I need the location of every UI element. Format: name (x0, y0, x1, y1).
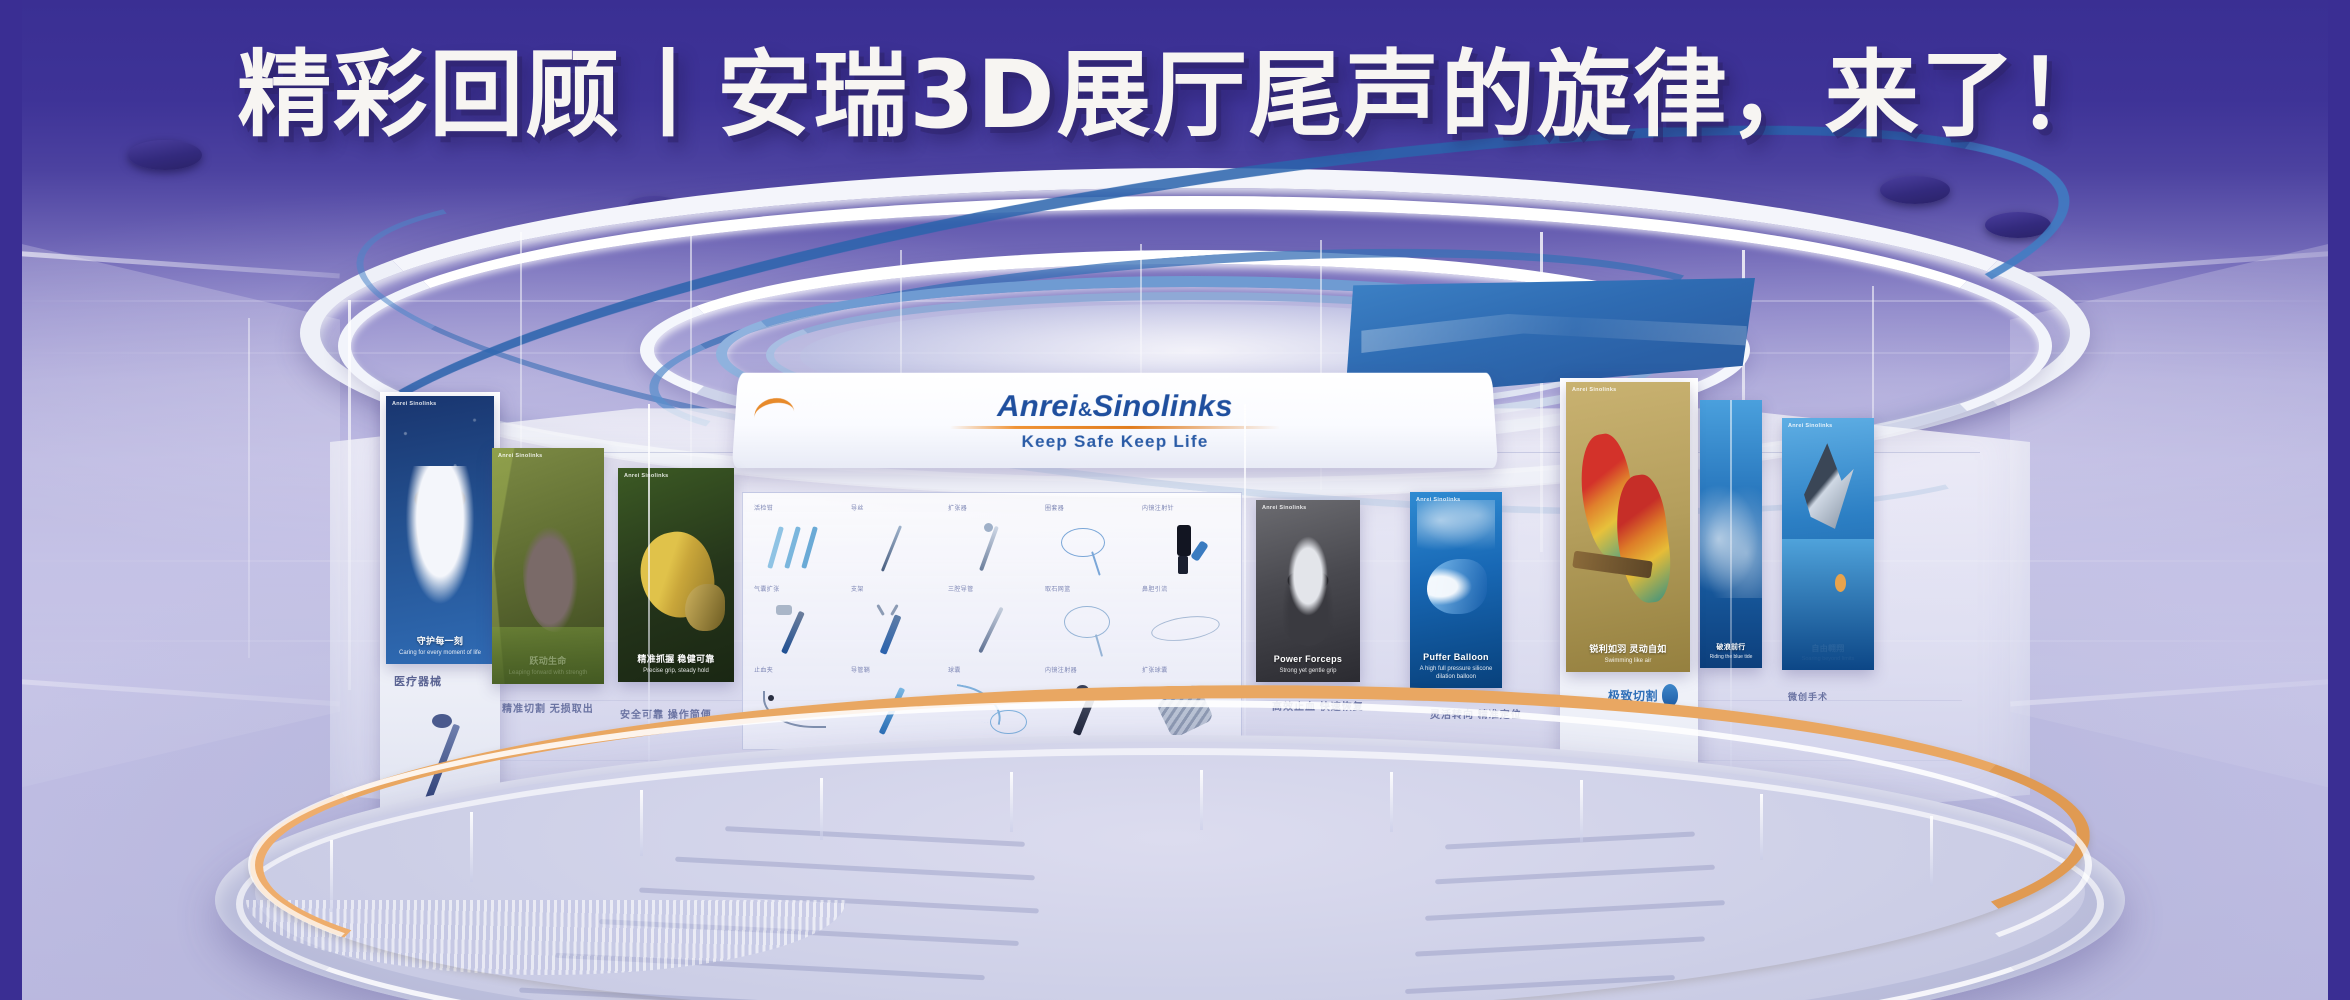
ceiling-light-pod-icon (1880, 176, 1950, 204)
poster-kangaroo-brand: Anrei Sinolinks (498, 453, 543, 459)
poster-puffer-dolphin-icon (1427, 559, 1488, 614)
poster-frog-title: 精准抓握 稳健可靠 (618, 654, 734, 665)
brand-logo-banner: Anrei&Sinolinks Keep Safe Keep Life (732, 373, 1498, 468)
product-cell[interactable]: 鼻胆引流 (1139, 584, 1233, 662)
brand-tagline: Keep Safe Keep Life (1021, 432, 1208, 452)
wall-seam (0, 300, 2350, 302)
right-edge-band (2328, 0, 2350, 1000)
product-icon-basket-loop (1050, 604, 1129, 657)
product-icon-thin-shaft (856, 523, 935, 576)
product-label: 圈套器 (1045, 503, 1064, 512)
poster-bee-eater-title: 锐利如羽 灵动自如 (1566, 644, 1690, 655)
poster-honey-badger[interactable]: Anrei Sinolinks Power Forceps Strong yet… (1256, 500, 1360, 682)
kiosk-mid-label: 微创手术 (1788, 690, 1828, 703)
product-icon-handle-shaft (856, 604, 935, 657)
product-label: 球囊 (948, 665, 961, 674)
brand-ampersand: & (1078, 399, 1093, 421)
left-edge-band (0, 0, 22, 1000)
product-icon-blue-shaft (759, 604, 838, 657)
instrument-tip (432, 714, 452, 728)
poster-puffer-brand: Anrei Sinolinks (1416, 497, 1461, 503)
poster-honey-badger-title: Power Forceps (1256, 654, 1360, 665)
product-icon-taper-shaft (953, 523, 1032, 576)
ceiling-light-pod-icon (628, 196, 680, 215)
poster-bee-eater-subtitle: Swimming like air (1566, 655, 1690, 672)
poster-puffer-foam (1417, 500, 1494, 551)
poster-honey-badger-illustration-icon (1273, 533, 1344, 646)
poster-panda-brand: Anrei Sinolinks (392, 401, 437, 407)
poster-kangaroo-illustration-icon (523, 519, 581, 632)
poster-honey-badger-brand: Anrei Sinolinks (1262, 505, 1307, 511)
poster-frog[interactable]: Anrei Sinolinks 精准抓握 稳健可靠 Precise grip, … (618, 468, 734, 682)
product-label: 支架 (851, 584, 864, 593)
product-cell[interactable]: 气囊扩张 (751, 584, 845, 662)
left-wall-panel (10, 230, 340, 790)
product-icon-snare-loop (1050, 523, 1129, 576)
product-label: 鼻胆引流 (1142, 584, 1168, 593)
poster-panda-illustration-icon (401, 466, 479, 616)
product-cell[interactable]: 导丝 (848, 503, 942, 581)
wall-seam (0, 352, 2350, 354)
wall-caption-1: 精准切割 无损取出 (502, 700, 594, 715)
brand-logo-text: Anrei&Sinolinks (997, 388, 1233, 424)
product-label: 扩张球囊 (1142, 665, 1168, 674)
product-icon-black-handle (1147, 523, 1226, 576)
poster-seabird-brand: Anrei Sinolinks (1788, 423, 1833, 429)
poster-frog-branch (685, 584, 724, 631)
product-cell[interactable]: 内镜注射针 (1139, 503, 1233, 581)
poster-panda[interactable]: Anrei Sinolinks 守护每一刻 Caring for every m… (386, 396, 494, 664)
poster-honey-badger-subtitle: Strong yet gentle grip (1256, 665, 1360, 682)
right-wall-panel (2010, 230, 2340, 790)
poster-kangaroo[interactable]: Anrei Sinolinks 跃动生命 Leaping forward wit… (492, 448, 604, 684)
product-label: 内镜注射器 (1045, 665, 1077, 674)
poster-puffer-title: Puffer Balloon (1410, 652, 1502, 663)
product-label: 气囊扩张 (754, 584, 780, 593)
poster-bee-eater[interactable]: Anrei Sinolinks 锐利如羽 灵动自如 Swimming like … (1566, 382, 1690, 672)
product-label: 三腔导管 (948, 584, 974, 593)
product-cell[interactable]: 支架 (848, 584, 942, 662)
product-label: 止血夹 (754, 665, 773, 674)
product-label: 内镜注射针 (1142, 503, 1174, 512)
logo-swoosh-icon (753, 395, 795, 421)
product-label: 导管鞘 (851, 665, 870, 674)
product-cell[interactable]: 取石网篮 (1042, 584, 1136, 662)
poster-kangaroo-ground (492, 627, 604, 684)
kiosk-left-line2: 医疗器械 (394, 674, 442, 691)
product-label: 活检钳 (754, 503, 773, 512)
logo-underline (950, 426, 1281, 429)
product-icon-oval-loop (1147, 604, 1226, 657)
product-label: 导丝 (851, 503, 864, 512)
ceiling-light-pod-icon (1985, 212, 2051, 238)
poster-bee-eater-bird-2-icon (1610, 472, 1675, 605)
poster-puffer-balloon[interactable]: Anrei Sinolinks Puffer Balloon A high fu… (1410, 492, 1502, 688)
product-cell[interactable]: 扩张器 (945, 503, 1039, 581)
brand-name-b: Sinolinks (1092, 388, 1233, 423)
product-cell[interactable]: 活检钳 (751, 503, 845, 581)
product-label: 扩张器 (948, 503, 967, 512)
poster-seabird-sea (1782, 539, 1874, 670)
poster-puffer-subtitle: A high full pressure silicone dilation b… (1410, 663, 1502, 688)
brand-name-a: Anrei (997, 388, 1078, 423)
poster-frog-subtitle: Precise grip, steady hold (618, 665, 734, 682)
exhibition-hall-banner: Anrei&Sinolinks Keep Safe Keep Life 安瑞 医… (0, 0, 2350, 1000)
poster-frog-brand: Anrei Sinolinks (624, 473, 669, 479)
poster-seabird[interactable]: Anrei Sinolinks 自由翱翔 Soaring beyond limi… (1782, 418, 1874, 670)
product-label: 取石网篮 (1045, 584, 1071, 593)
product-cell[interactable]: 圈套器 (1042, 503, 1136, 581)
product-icon-triple-shaft (759, 523, 838, 576)
poster-bee-eater-brand: Anrei Sinolinks (1572, 387, 1617, 393)
hanger-rod (248, 318, 250, 658)
poster-seabird-bird-icon (1799, 443, 1854, 529)
product-cell[interactable]: 三腔导管 (945, 584, 1039, 662)
ceiling-light-pod-icon (128, 140, 202, 170)
wall-divider (648, 404, 650, 764)
product-icon-long-needle (953, 604, 1032, 657)
